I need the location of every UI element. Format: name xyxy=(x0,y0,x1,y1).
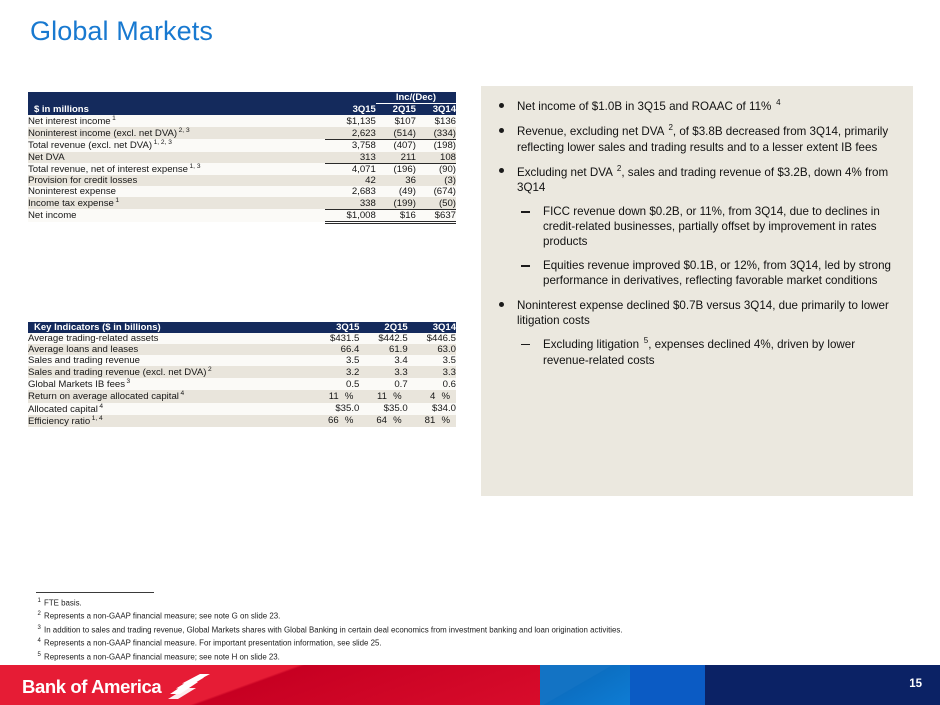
table-value-cell: 42 xyxy=(325,175,376,186)
span-inc-dec: Inc/(Dec) xyxy=(376,92,456,104)
footnote-marker: 2 xyxy=(206,366,211,373)
footnote-marker: 5 xyxy=(642,336,648,345)
footnote-marker: 1, 2, 3 xyxy=(152,139,172,146)
indicators-col-3q15: 3Q15 xyxy=(311,322,359,333)
percent-symbol: % xyxy=(341,415,353,426)
table-value-cell: $1,008 xyxy=(325,209,376,222)
table-value-cell: 3.4 xyxy=(359,355,407,366)
row-label: Global Markets IB fees3 xyxy=(28,378,311,390)
table-value-cell: 3.5 xyxy=(311,355,359,366)
commentary-panel: Net income of $1.0B in 3Q15 and ROAAC of… xyxy=(481,86,913,496)
row-label: Noninterest expense xyxy=(28,186,325,197)
footer-navy-band: 15 xyxy=(705,665,940,705)
footnote-marker: 1 xyxy=(111,115,116,122)
row-label: Net DVA xyxy=(28,152,325,164)
income-table-head: Inc/(Dec) $ in millions 3Q15 2Q15 3Q14 xyxy=(28,92,456,115)
table-value-cell: 81 % xyxy=(408,415,456,427)
table-value-cell: $431.5 xyxy=(311,333,359,344)
row-label: Sales and trading revenue xyxy=(28,355,311,366)
footnote-marker: 3 xyxy=(125,378,130,385)
row-label: Total revenue, net of interest expense1,… xyxy=(28,163,325,175)
table-row: Sales and trading revenue (excl. net DVA… xyxy=(28,366,456,378)
bullet-dash-icon xyxy=(521,211,530,212)
table-value-cell: (49) xyxy=(376,186,416,197)
table-row: Return on average allocated capital411 %… xyxy=(28,390,456,402)
row-label: Net income xyxy=(28,209,325,222)
percent-symbol: % xyxy=(341,391,353,402)
indicators-col-3q14: 3Q14 xyxy=(408,322,456,333)
footnote-marker: 2 xyxy=(667,123,673,132)
table-row: Total revenue (excl. net DVA)1, 2, 33,75… xyxy=(28,139,456,151)
sub-bullet-list: FICC revenue down $0.2B, or 11%, from 3Q… xyxy=(517,204,897,289)
footnote-marker: 4 xyxy=(36,638,42,644)
footnote-marker: 5 xyxy=(36,652,42,658)
table-value-cell: 64 % xyxy=(359,415,407,427)
table-value-cell: (196) xyxy=(376,163,416,175)
slide: Global Markets Inc/(Dec) $ in millions 3… xyxy=(0,0,940,705)
row-label: Allocated capital4 xyxy=(28,403,311,415)
sub-bullet-list: Excluding litigation 5, expenses decline… xyxy=(517,336,897,368)
table-row: Income tax expense1338(199)(50) xyxy=(28,197,456,209)
footnote-marker: 4 xyxy=(179,390,184,397)
bullet-dash-icon xyxy=(521,344,530,345)
sub-bullet-item: Equities revenue improved $0.1B, or 12%,… xyxy=(517,258,897,289)
income-col-3q15: 3Q15 xyxy=(325,104,376,116)
income-statement-table: Inc/(Dec) $ in millions 3Q15 2Q15 3Q14 N… xyxy=(28,92,456,224)
sub-bullet-item: FICC revenue down $0.2B, or 11%, from 3Q… xyxy=(517,204,897,250)
footnote-marker: 4 xyxy=(775,98,781,107)
footnote: 3 In addition to sales and trading reven… xyxy=(36,624,896,637)
flagscape-icon xyxy=(168,674,214,700)
row-label: Average trading-related assets xyxy=(28,333,311,344)
footnote: 4 Represents a non-GAAP financial measur… xyxy=(36,637,896,650)
footnote-marker: 2 xyxy=(615,164,621,173)
bullet-item: Excluding net DVA 2, sales and trading r… xyxy=(491,164,897,289)
span-blank-3q15 xyxy=(325,92,376,104)
income-col-3q14: 3Q14 xyxy=(416,104,456,116)
footnote-marker: 3 xyxy=(36,625,42,631)
table-value-cell: 11 % xyxy=(359,390,407,402)
footnote-marker: 1 xyxy=(36,598,42,604)
table-value-cell: 3.3 xyxy=(408,366,456,378)
table-row: Provision for credit losses4236(3) xyxy=(28,175,456,186)
table-value-cell: 4,071 xyxy=(325,163,376,175)
table-row: Efficiency ratio1, 466 %64 %81 % xyxy=(28,415,456,427)
table-value-cell: (334) xyxy=(416,127,456,139)
footnote-marker: 2 xyxy=(36,611,42,617)
table-value-cell: 313 xyxy=(325,152,376,164)
table-value-cell: (407) xyxy=(376,139,416,151)
table-value-cell: (674) xyxy=(416,186,456,197)
table-value-cell: 11 % xyxy=(311,390,359,402)
span-blank-label xyxy=(28,92,325,104)
footnote: 5 Represents a non-GAAP financial measur… xyxy=(36,651,896,664)
footnote: 1 FTE basis. xyxy=(36,597,896,610)
table-value-cell: 36 xyxy=(376,175,416,186)
percent-symbol: % xyxy=(390,415,402,426)
table-row: Allocated capital4$35.0$35.0$34.0 xyxy=(28,403,456,415)
table-value-cell: $1,135 xyxy=(325,115,376,127)
table-value-cell: $107 xyxy=(376,115,416,127)
table-value-cell: (50) xyxy=(416,197,456,209)
percent-symbol: % xyxy=(390,391,402,402)
table-value-cell: 3.5 xyxy=(408,355,456,366)
indicators-header-row: Key Indicators ($ in billions) 3Q15 2Q15… xyxy=(28,322,456,333)
row-label: Net interest income1 xyxy=(28,115,325,127)
table-value-cell: 0.7 xyxy=(359,378,407,390)
bullet-item: Noninterest expense declined $0.7B versu… xyxy=(491,298,897,368)
footnote-marker: 2, 3 xyxy=(177,127,190,134)
bullet-dash-icon xyxy=(521,265,530,266)
bullet-dot-icon xyxy=(499,168,504,173)
footnote-marker: 1, 3 xyxy=(188,163,201,170)
table-value-cell: 2,683 xyxy=(325,186,376,197)
logo-wordmark: Bank of America xyxy=(22,676,161,698)
income-table-span-row: Inc/(Dec) xyxy=(28,92,456,104)
table-value-cell: 66 % xyxy=(311,415,359,427)
indicators-table-body: Average trading-related assets$431.5$442… xyxy=(28,333,456,427)
bullet-dot-icon xyxy=(499,128,504,133)
table-value-cell: 61.9 xyxy=(359,344,407,355)
table-value-cell: 3,758 xyxy=(325,139,376,151)
row-label: Provision for credit losses xyxy=(28,175,325,186)
bullet-dot-icon xyxy=(499,302,504,307)
table-value-cell: 4 % xyxy=(408,390,456,402)
percent-symbol: % xyxy=(438,415,450,426)
table-value-cell: 0.6 xyxy=(408,378,456,390)
commentary-bullet-list: Net income of $1.0B in 3Q15 and ROAAC of… xyxy=(491,98,897,368)
table-row: Total revenue, net of interest expense1,… xyxy=(28,163,456,175)
footnote-marker: 1, 4 xyxy=(90,415,103,422)
table-row: Average loans and leases66.461.963.0 xyxy=(28,344,456,355)
footer-light-blue-band xyxy=(540,665,630,705)
sub-bullet-item: Excluding litigation 5, expenses decline… xyxy=(517,336,897,368)
income-table-header-row: $ in millions 3Q15 2Q15 3Q14 xyxy=(28,104,456,116)
table-value-cell: (199) xyxy=(376,197,416,209)
table-value-cell: 108 xyxy=(416,152,456,164)
table-row: Net interest income1$1,135$107$136 xyxy=(28,115,456,127)
table-value-cell: 0.5 xyxy=(311,378,359,390)
table-row: Average trading-related assets$431.5$442… xyxy=(28,333,456,344)
table-value-cell: 2,623 xyxy=(325,127,376,139)
table-value-cell: $637 xyxy=(416,209,456,222)
page-title: Global Markets xyxy=(30,16,213,47)
table-value-cell: $35.0 xyxy=(359,403,407,415)
footnote-marker: 1 xyxy=(114,197,119,204)
row-label: Efficiency ratio1, 4 xyxy=(28,415,311,427)
indicators-col-label: Key Indicators ($ in billions) xyxy=(28,322,311,333)
table-value-cell: 211 xyxy=(376,152,416,164)
row-label: Total revenue (excl. net DVA)1, 2, 3 xyxy=(28,139,325,151)
income-col-label: $ in millions xyxy=(28,104,325,116)
table-value-cell: (198) xyxy=(416,139,456,151)
table-value-cell: $35.0 xyxy=(311,403,359,415)
indicators-col-2q15: 2Q15 xyxy=(359,322,407,333)
footnote-marker: 4 xyxy=(98,403,103,410)
table-value-cell: 338 xyxy=(325,197,376,209)
footer-medium-blue-band xyxy=(630,665,705,705)
footnote-list: 1 FTE basis.2 Represents a non-GAAP fina… xyxy=(36,597,896,664)
page-number: 15 xyxy=(909,678,922,690)
income-col-2q15: 2Q15 xyxy=(376,104,416,116)
table-row: Net income$1,008$16$637 xyxy=(28,209,456,222)
table-value-cell: 3.3 xyxy=(359,366,407,378)
table-row: Net DVA313211108 xyxy=(28,152,456,164)
row-label: Noninterest income (excl. net DVA)2, 3 xyxy=(28,127,325,139)
row-label: Income tax expense1 xyxy=(28,197,325,209)
bullet-dot-icon xyxy=(499,103,504,108)
row-label: Average loans and leases xyxy=(28,344,311,355)
table-row: Sales and trading revenue3.53.43.5 xyxy=(28,355,456,366)
table-value-cell: (90) xyxy=(416,163,456,175)
table-row: Noninterest income (excl. net DVA)2, 32,… xyxy=(28,127,456,139)
bullet-item: Revenue, excluding net DVA 2, of $3.8B d… xyxy=(491,123,897,155)
table-value-cell: $442.5 xyxy=(359,333,407,344)
table-value-cell: $136 xyxy=(416,115,456,127)
table-value-cell: $34.0 xyxy=(408,403,456,415)
row-label: Sales and trading revenue (excl. net DVA… xyxy=(28,366,311,378)
table-value-cell: 66.4 xyxy=(311,344,359,355)
table-value-cell: 63.0 xyxy=(408,344,456,355)
table-row: Noninterest expense2,683(49)(674) xyxy=(28,186,456,197)
table-value-cell: (514) xyxy=(376,127,416,139)
table-value-cell: (3) xyxy=(416,175,456,186)
bullet-item: Net income of $1.0B in 3Q15 and ROAAC of… xyxy=(491,98,897,114)
footnote-divider xyxy=(36,592,154,593)
key-indicators-table: Key Indicators ($ in billions) 3Q15 2Q15… xyxy=(28,322,456,427)
bank-of-america-logo: Bank of America xyxy=(22,674,214,700)
footnotes-block: 1 FTE basis.2 Represents a non-GAAP fina… xyxy=(36,592,896,664)
income-table-body: Net interest income1$1,135$107$136Nonint… xyxy=(28,115,456,222)
table-row: Global Markets IB fees30.50.70.6 xyxy=(28,378,456,390)
table-value-cell: 3.2 xyxy=(311,366,359,378)
footnote: 2 Represents a non-GAAP financial measur… xyxy=(36,610,896,623)
indicators-table-head: Key Indicators ($ in billions) 3Q15 2Q15… xyxy=(28,322,456,333)
table-value-cell: $446.5 xyxy=(408,333,456,344)
footer-bar: 15 Bank of America xyxy=(0,665,940,705)
table-value-cell: $16 xyxy=(376,209,416,222)
row-label: Return on average allocated capital4 xyxy=(28,390,311,402)
percent-symbol: % xyxy=(438,391,450,402)
